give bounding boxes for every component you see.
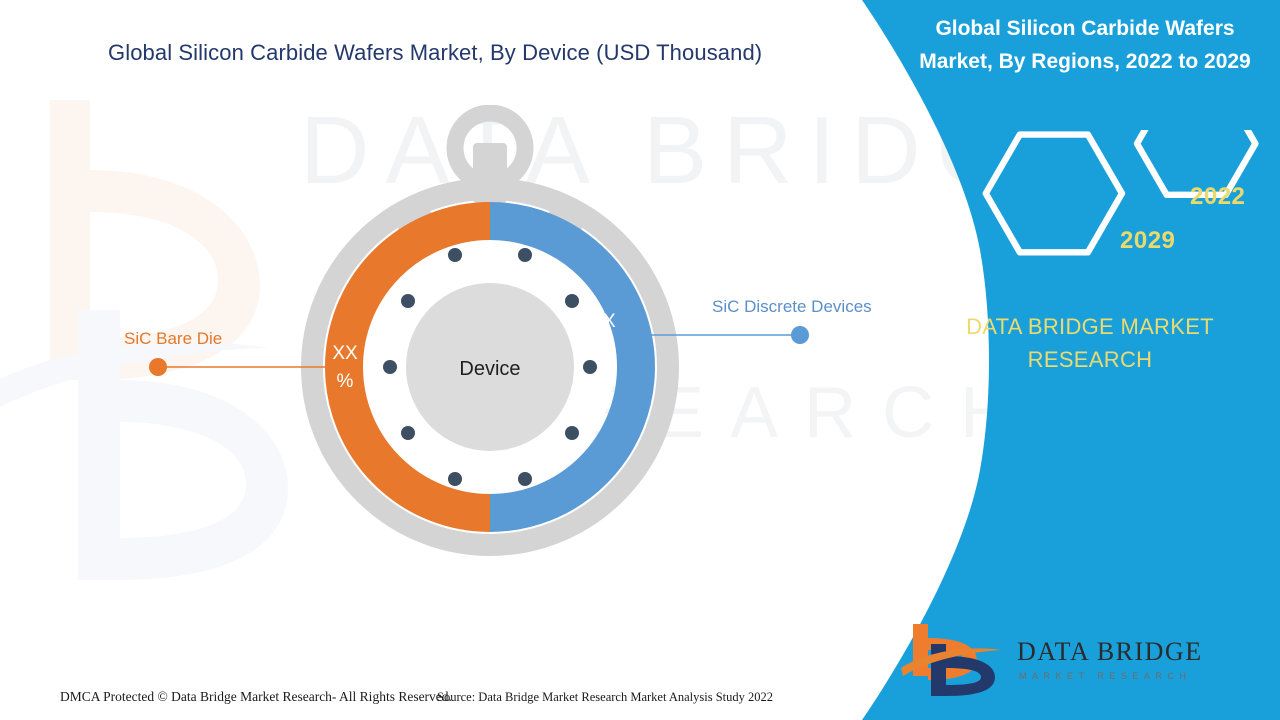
data-bridge-logo: DATA BRIDGE MARKET RESEARCH [895, 622, 1225, 696]
callout-label-sic-bare-die: SiC Bare Die [124, 329, 222, 349]
footer-bar: DMCA Protected © Data Bridge Market Rese… [0, 678, 860, 720]
donut-chart: Device XX % XX % [280, 105, 700, 565]
panel-title: Global Silicon Carbide Wafers Market, By… [910, 12, 1260, 78]
year-hexagons: 2022 2029 [980, 130, 1280, 290]
panel-title-line1: Global Silicon Carbide Wafers [935, 17, 1234, 40]
panel-title-line2: Market, By Regions, 2022 to 2029 [919, 50, 1250, 73]
callout-marker-left [149, 358, 167, 376]
hexagon-2029[interactable] [986, 135, 1122, 253]
hexagon-label-2022: 2022 [1190, 183, 1245, 211]
footer-dmca-text: DMCA Protected © Data Bridge Market Rese… [60, 689, 452, 705]
logo-tagline: MARKET RESEARCH [1019, 671, 1191, 681]
brand-line-2: RESEARCH [1028, 347, 1153, 372]
infographic-canvas: DATA BRIDGE RESEARCH Global Silicon Carb… [0, 0, 1280, 720]
callout-marker-right [791, 326, 809, 344]
value-label-left-unit: % [337, 371, 354, 392]
donut-chart-svg: Device XX % XX % [280, 105, 700, 565]
panel-brand-text: DATA BRIDGE MARKET RESEARCH [925, 310, 1255, 376]
regions-panel: Global Silicon Carbide Wafers Market, By… [840, 0, 1280, 720]
value-label-left-number: XX [332, 343, 358, 364]
chart-title: Global Silicon Carbide Wafers Market, By… [108, 40, 762, 66]
value-label-right-unit: % [595, 339, 612, 360]
data-bridge-logo-svg: DATA BRIDGE MARKET RESEARCH [895, 622, 1225, 696]
value-label-right-number: XX [590, 311, 616, 332]
footer-source-text: Source: Data Bridge Market Research Mark… [437, 690, 773, 705]
donut-center-label: Device [459, 358, 520, 380]
brand-line-1: DATA BRIDGE MARKET [966, 314, 1214, 339]
hexagon-label-2029: 2029 [1120, 227, 1175, 255]
logo-wordmark: DATA BRIDGE [1017, 637, 1203, 666]
